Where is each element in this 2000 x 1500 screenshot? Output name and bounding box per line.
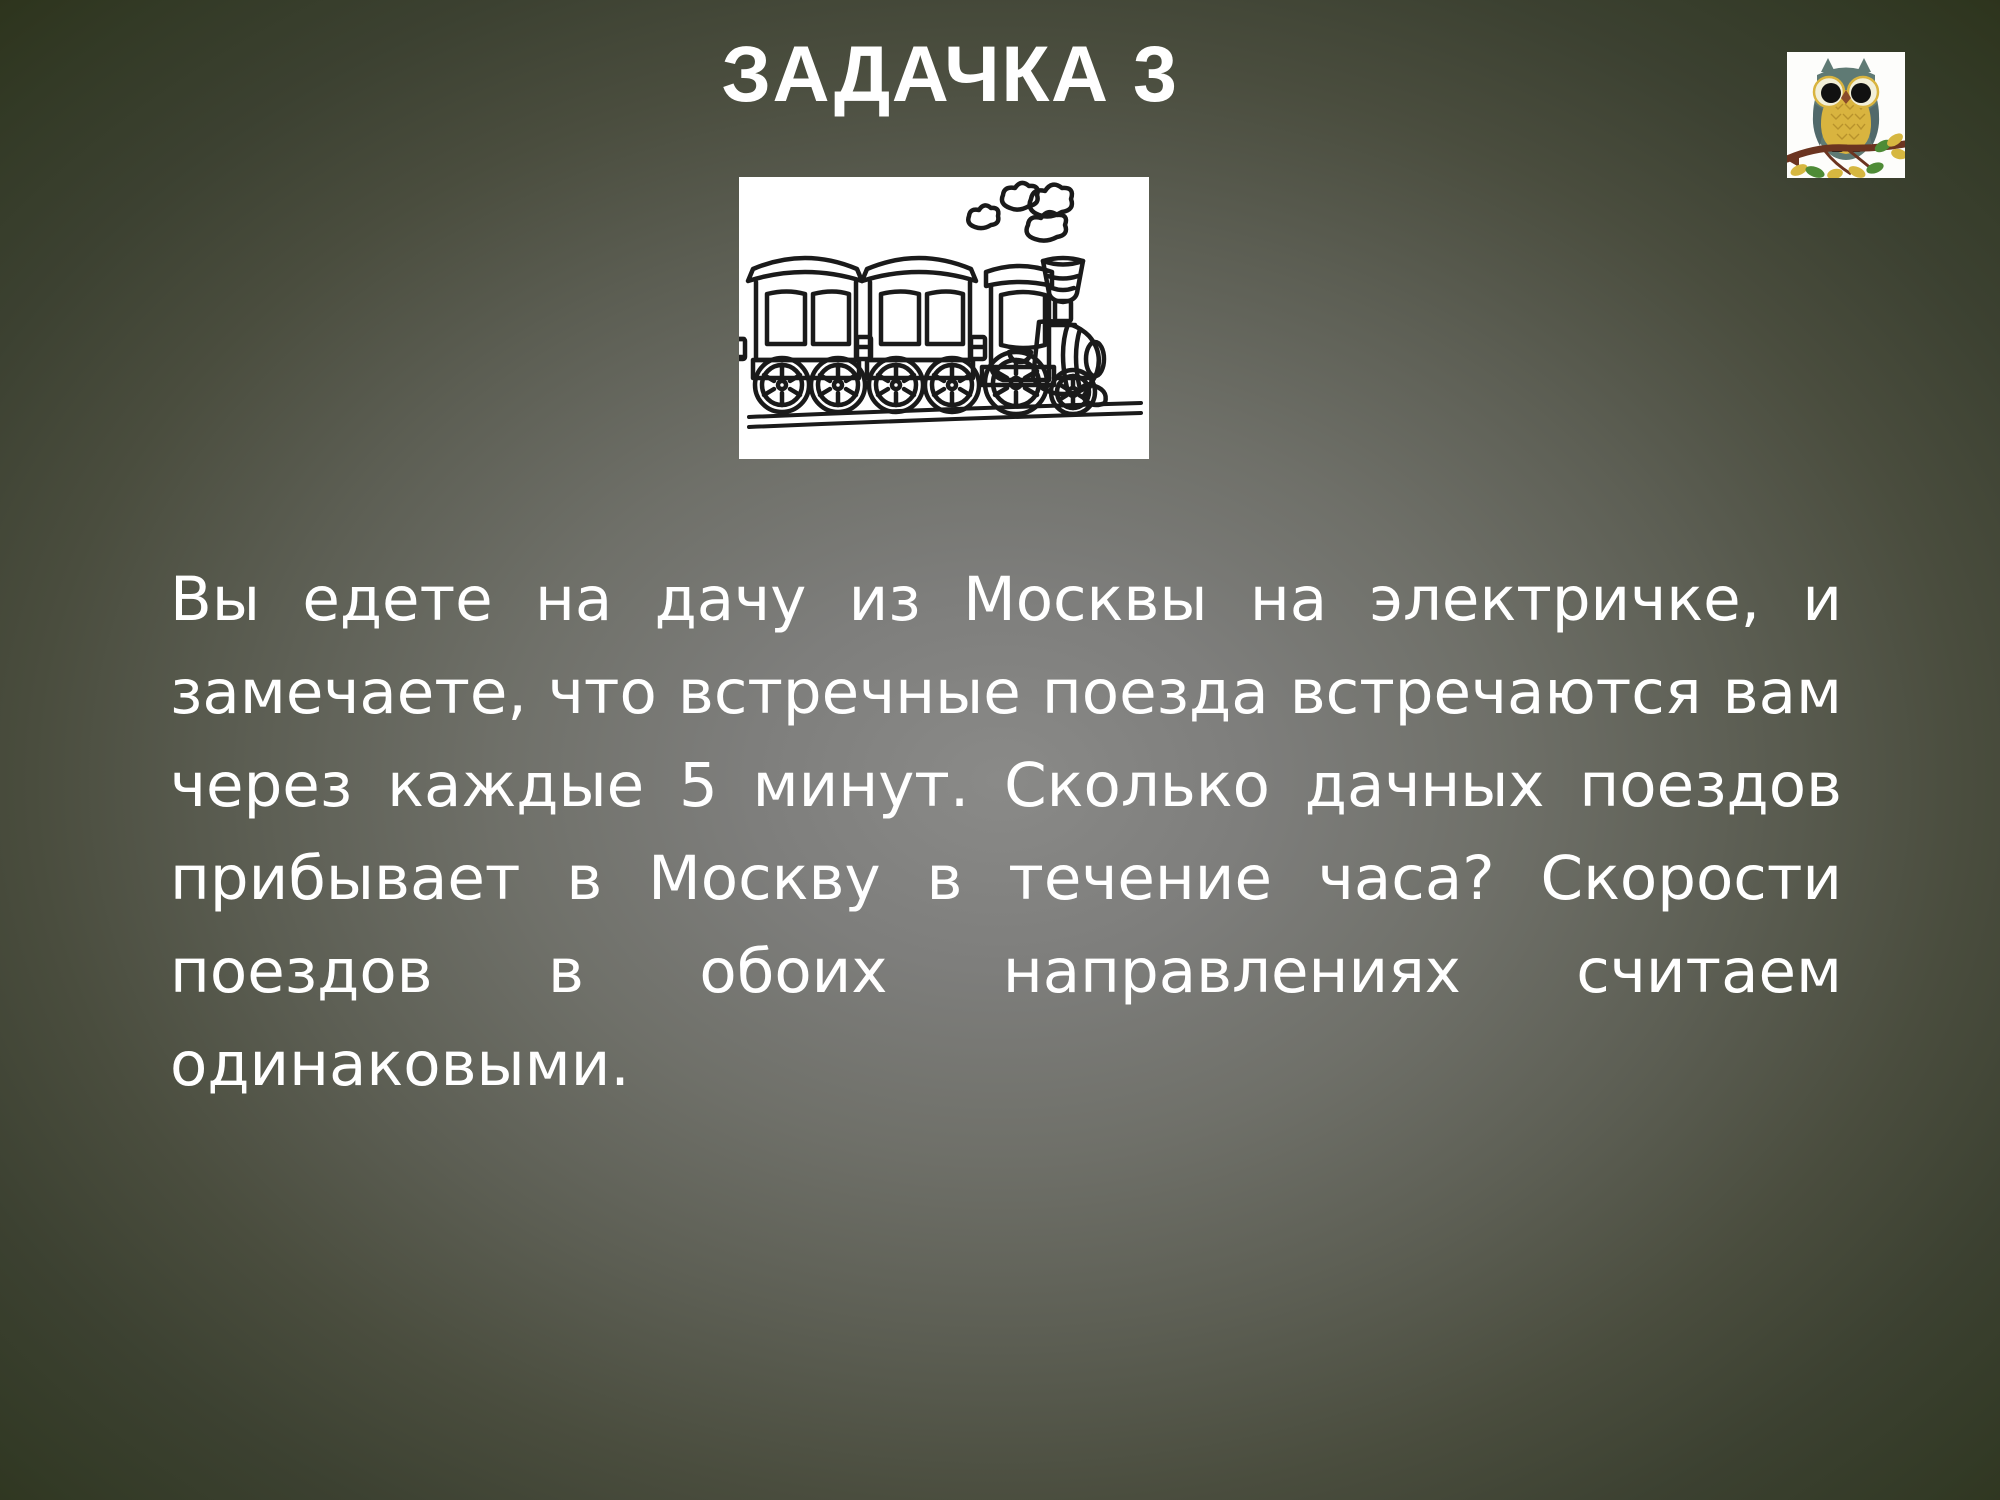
page-title: ЗАДАЧКА 3 <box>0 34 1900 113</box>
problem-statement: Вы едете на дачу из Москвы на электричке… <box>170 553 1842 1204</box>
steam-train-icon <box>739 177 1149 459</box>
slide-canvas: ЗАДАЧКА 3 <box>0 0 2000 1500</box>
owl-logo <box>1787 52 1905 178</box>
train-illustration <box>739 177 1149 459</box>
owl-icon <box>1787 52 1905 178</box>
